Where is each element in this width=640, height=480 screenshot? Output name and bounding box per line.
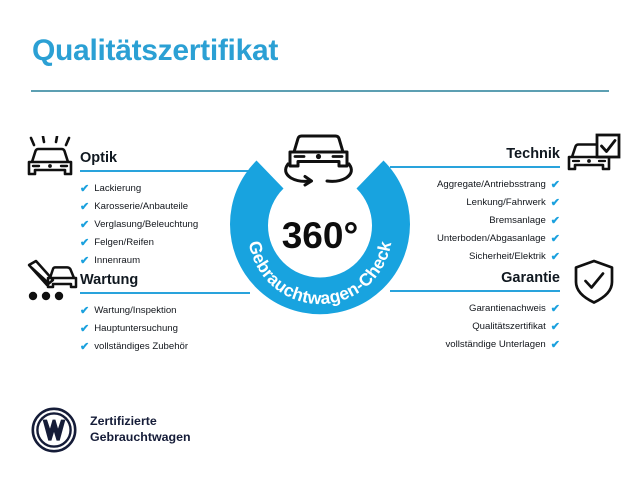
list-item: vollständige Unterlagen✔ (390, 340, 560, 351)
check-icon: ✔ (551, 198, 560, 209)
footer-brand: Zertifizierte Gebrauchtwagen (31, 407, 191, 453)
footer-line-2: Gebrauchtwagen (90, 430, 191, 446)
check-icon: ✔ (551, 304, 560, 315)
list-item-label: Bremsanlage (489, 216, 546, 226)
check-icon: ✔ (80, 202, 89, 213)
list-item-label: Felgen/Reifen (94, 238, 154, 248)
list-item-label: vollständige Unterlagen (446, 340, 546, 350)
list-item-label: Wartung/Inspektion (94, 306, 176, 316)
list-item: ✔vollständiges Zubehör (80, 342, 250, 353)
check-icon: ✔ (80, 342, 89, 353)
list-item-label: Qualitätszertifikat (472, 322, 546, 332)
list-item-label: vollständiges Zubehör (94, 342, 188, 352)
car-shine-icon (22, 136, 80, 189)
badge-center-text: 360° (282, 215, 359, 256)
check-icon: ✔ (551, 180, 560, 191)
list-item-label: Sicherheit/Elektrik (469, 252, 546, 262)
check-icon: ✔ (551, 340, 560, 351)
check-icon: ✔ (551, 252, 560, 263)
badge-360-gebrauchtwagen-check: Gebrauchtwagen-Check 360° (216, 116, 424, 328)
list-item-label: Lenkung/Fahrwerk (466, 198, 545, 208)
car-rotation-icon (286, 136, 352, 185)
list-item-label: Garantienachweis (469, 304, 546, 314)
check-icon: ✔ (551, 234, 560, 245)
check-icon: ✔ (80, 238, 89, 249)
car-checkbox-icon (566, 133, 622, 186)
check-icon: ✔ (551, 322, 560, 333)
check-icon: ✔ (551, 216, 560, 227)
certificate-page: Qualitätszertifikat (0, 0, 640, 480)
shield-check-icon (572, 258, 616, 311)
check-icon: ✔ (80, 184, 89, 195)
list-item-label: Innenraum (94, 256, 140, 266)
list-item-label: Unterboden/Abgasanlage (437, 234, 546, 244)
footer-line-1: Zertifizierte (90, 414, 191, 430)
footer-brand-text: Zertifizierte Gebrauchtwagen (90, 414, 191, 446)
list-item-label: Hauptuntersuchung (94, 324, 178, 334)
title-divider (31, 90, 609, 92)
list-item-label: Aggregate/Antriebsstrang (437, 180, 546, 190)
list-item-label: Lackierung (94, 184, 141, 194)
list-item-label: Verglasung/Beleuchtung (94, 220, 198, 230)
list-item-label: Karosserie/Anbauteile (94, 202, 188, 212)
vw-logo (31, 407, 77, 453)
check-icon: ✔ (80, 324, 89, 335)
check-icon: ✔ (80, 256, 89, 267)
check-icon: ✔ (80, 306, 89, 317)
check-icon: ✔ (80, 220, 89, 231)
page-title: Qualitätszertifikat (32, 34, 278, 68)
service-pen-car-icon (22, 258, 80, 311)
